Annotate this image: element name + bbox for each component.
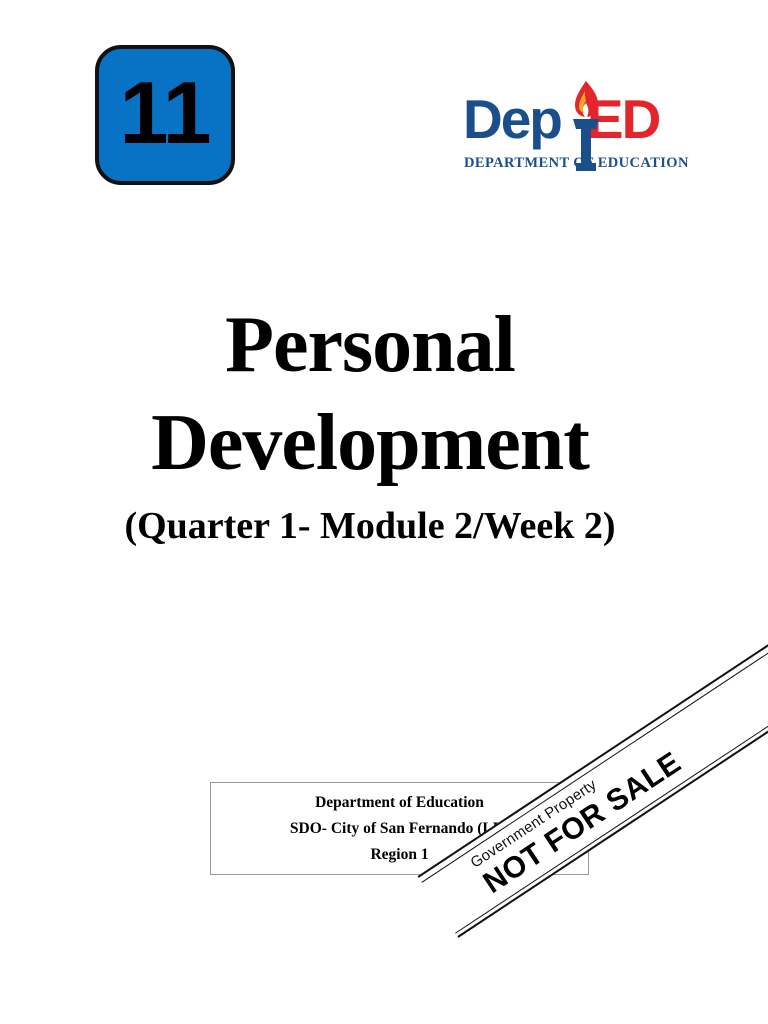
title-block: Personal Development (Quarter 1- Module … <box>0 296 740 554</box>
page-subtitle: (Quarter 1- Module 2/Week 2) <box>0 498 740 554</box>
deped-tagline: DEPARTMENT OF EDUCATION <box>464 155 669 172</box>
deped-wordmark-dep: Dep <box>463 88 561 150</box>
banner-small-text: Government Property <box>467 648 768 872</box>
grade-level-badge: 11 <box>95 45 235 185</box>
grade-level-number: 11 <box>119 69 210 157</box>
module-cover-page: 11 DepED DEPARTMENT OF EDUCATION Persona… <box>0 0 768 1024</box>
deped-logo: DepED DEPARTMENT OF EDUCATION <box>463 83 668 183</box>
page-title-line-2: Development <box>0 394 740 492</box>
page-title-line-1: Personal <box>0 296 740 394</box>
